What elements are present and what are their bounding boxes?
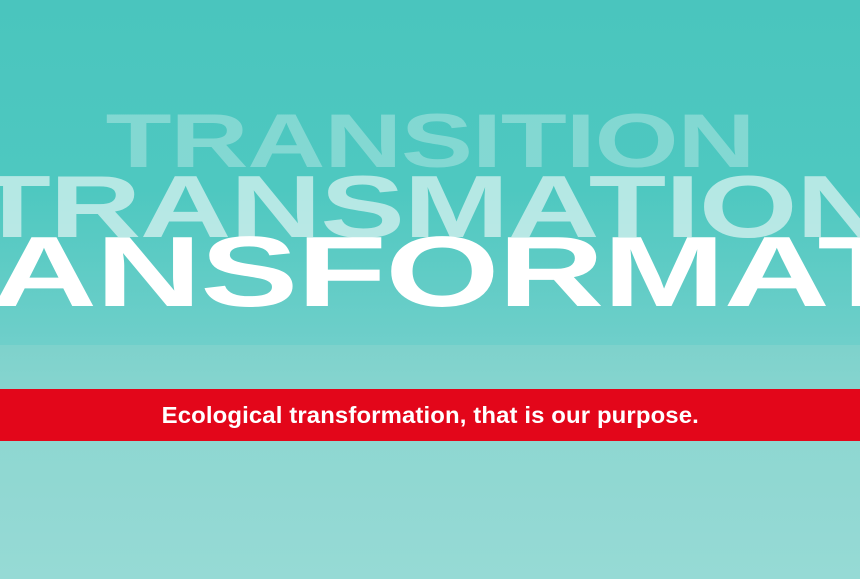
tagline-banner: Ecological transformation, that is our p… [0,389,860,441]
tagline-text: Ecological transformation, that is our p… [161,402,698,429]
headline-stack: TRANSITION TRANSMATION TRANSFORMATION [0,0,860,389]
headline-layer-transformation: TRANSFORMATION [0,222,860,322]
poster-canvas: TRANSITION TRANSMATION TRANSFORMATION Ec… [0,0,860,579]
